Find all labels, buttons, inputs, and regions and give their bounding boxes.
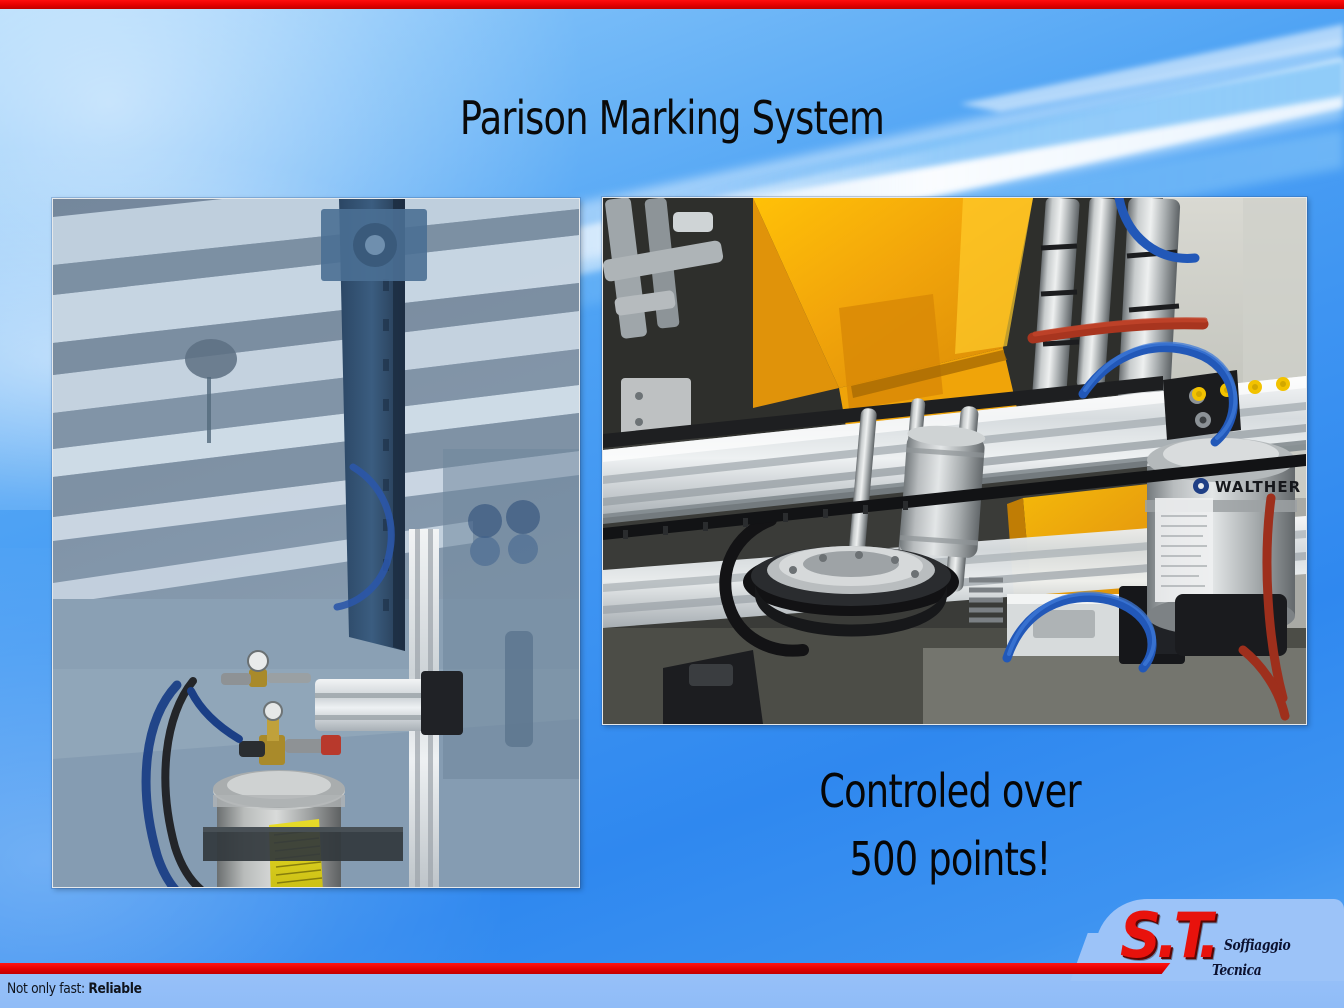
bottom-red-rule xyxy=(0,963,1140,974)
footer-tagline-prefix: Not only fast: xyxy=(7,981,85,997)
slide-canvas: Parison Marking System xyxy=(0,0,1344,1008)
photo-right-marking-head: WALTHER xyxy=(602,197,1307,725)
svg-text:WALTHER: WALTHER xyxy=(1215,478,1301,496)
page-title: Parison Marking System xyxy=(134,93,1209,143)
footer-tagline: Not only fast: Reliable xyxy=(7,981,142,997)
photo-left-marking-unit xyxy=(52,198,580,888)
caption-block: Controled over 500 points! xyxy=(640,757,1260,893)
company-logo[interactable]: S.T. Soffiaggio Tecnica xyxy=(1120,903,1344,981)
top-red-rule xyxy=(0,0,1344,9)
logo-word-soffiaggio: Soffiaggio xyxy=(1224,936,1290,954)
caption-line-2: 500 points! xyxy=(702,825,1198,893)
logo-word-tecnica: Tecnica xyxy=(1212,961,1261,979)
footer-tagline-emphasis: Reliable xyxy=(88,981,141,997)
caption-line-1: Controled over xyxy=(702,757,1198,825)
logo-mark-st: S.T. xyxy=(1120,905,1215,967)
